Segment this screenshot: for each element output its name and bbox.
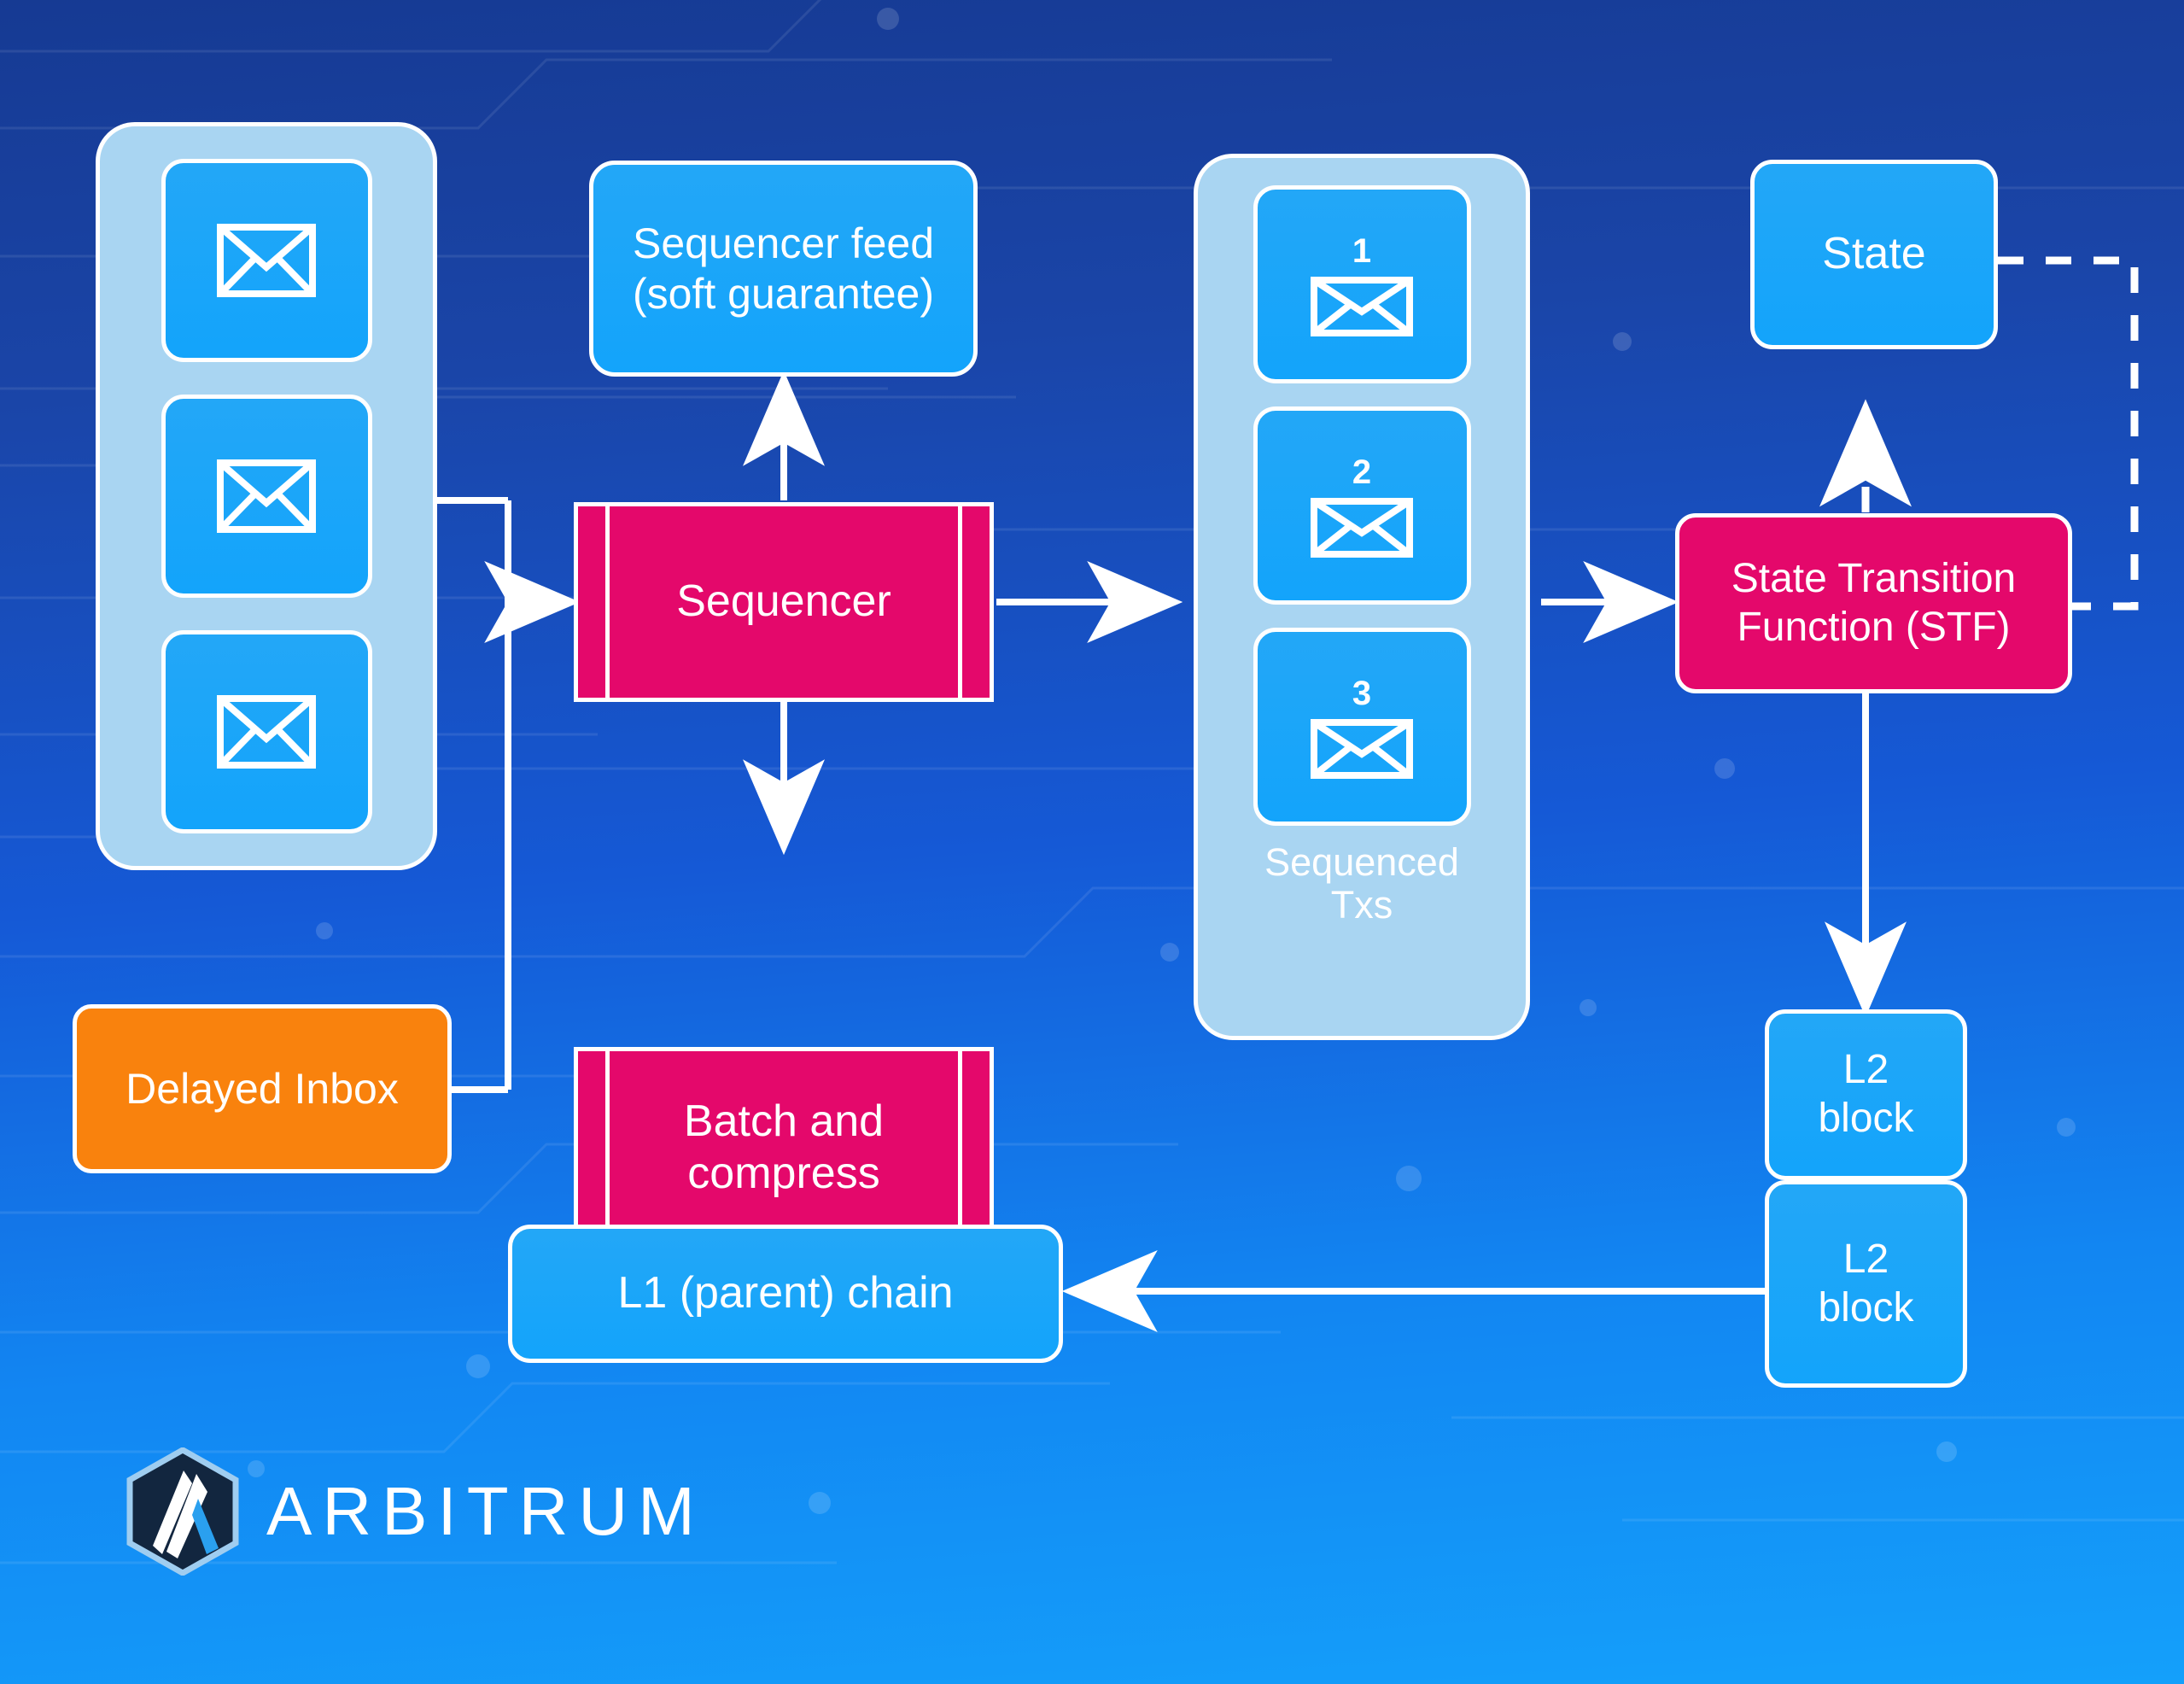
incoming-tx-card[interactable]	[161, 159, 372, 362]
sequenced-tx-number: 2	[1352, 453, 1371, 493]
sequencer-feed-label-line1: Sequencer feed	[633, 219, 934, 269]
arbitrum-hexagon-logo-icon	[125, 1447, 241, 1576]
state-label: State	[1822, 228, 1925, 280]
batch-label-line2: compress	[687, 1148, 879, 1200]
l2-block-2-box[interactable]: L2 block	[1765, 1180, 1967, 1388]
l1-chain-label: L1 (parent) chain	[617, 1267, 953, 1319]
sequenced-tx-number: 3	[1352, 674, 1371, 714]
sequencer-box[interactable]: Sequencer	[574, 502, 994, 702]
sequencer-feed-label-line2: (soft guarantee)	[633, 269, 934, 319]
sequenced-tx-number: 1	[1352, 231, 1371, 272]
state-box[interactable]: State	[1750, 160, 1998, 349]
sequenced-tx-card[interactable]: 1	[1253, 185, 1471, 383]
envelope-icon	[1310, 718, 1414, 780]
delayed-inbox-box[interactable]: Delayed Inbox	[73, 1004, 452, 1173]
delayed-inbox-label: Delayed Inbox	[126, 1064, 399, 1114]
sequencer-label: Sequencer	[676, 576, 891, 628]
l1-parent-chain-box[interactable]: L1 (parent) chain	[508, 1225, 1063, 1363]
envelope-icon	[216, 223, 317, 298]
incoming-tx-card[interactable]	[161, 630, 372, 833]
incoming-tx-card[interactable]	[161, 395, 372, 598]
sequenced-tx-card[interactable]: 2	[1253, 406, 1471, 605]
envelope-icon	[1310, 276, 1414, 337]
stf-label-line2: Function (STF)	[1737, 604, 2010, 652]
sequenced-txs-group: 1 2 3 Sequenced Txs	[1194, 154, 1530, 1040]
l2-block-1-box[interactable]: L2 block	[1765, 1009, 1967, 1180]
batch-and-compress-box[interactable]: Batch and compress	[574, 1047, 994, 1248]
l2-block-1-label-line1: L2	[1843, 1046, 1889, 1095]
sequencer-feed-box[interactable]: Sequencer feed (soft guarantee)	[589, 161, 978, 377]
envelope-icon	[1310, 497, 1414, 558]
stf-box[interactable]: State Transition Function (STF)	[1675, 513, 2072, 693]
envelope-icon	[216, 459, 317, 534]
l2-block-2-label-line1: L2	[1843, 1236, 1889, 1284]
arbitrum-branding: ARBITRUM	[125, 1447, 705, 1576]
envelope-icon	[216, 694, 317, 769]
sequenced-txs-group-label: Sequenced Txs	[1264, 841, 1459, 927]
arbitrum-wordmark: ARBITRUM	[266, 1472, 705, 1551]
batch-label-line1: Batch and	[684, 1096, 884, 1148]
sequenced-txs-label-line2: Txs	[1264, 884, 1459, 927]
sequenced-tx-card[interactable]: 3	[1253, 628, 1471, 826]
stf-label-line1: State Transition	[1731, 555, 2017, 604]
diagram-canvas: Sequencer feed (soft guarantee) Sequence…	[0, 0, 2184, 1684]
incoming-txs-group	[96, 122, 437, 870]
sequenced-txs-label-line1: Sequenced	[1264, 841, 1459, 884]
l2-block-1-label-line2: block	[1818, 1095, 1913, 1143]
l2-block-2-label-line2: block	[1818, 1284, 1913, 1333]
